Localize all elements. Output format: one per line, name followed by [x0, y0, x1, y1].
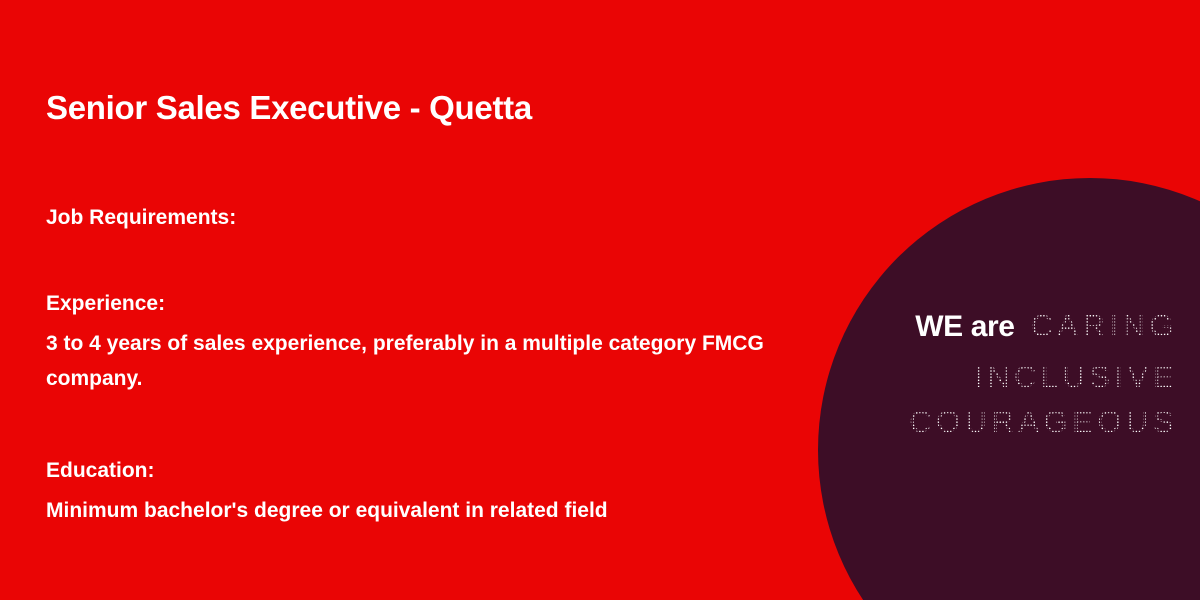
- tagline-line-1: WE are CARING: [909, 303, 1178, 354]
- experience-body: 3 to 4 years of sales experience, prefer…: [46, 326, 766, 396]
- education-label: Education:: [46, 456, 155, 486]
- headline-with-us: With Us: [46, 0, 243, 12]
- tagline-value-inclusive: INCLUSIVE: [909, 354, 1178, 399]
- tagline-value-caring: CARING: [1030, 308, 1178, 343]
- job-copy-column: With Us Senior Sales Executive - Quetta …: [46, 0, 806, 600]
- job-title: Senior Sales Executive - Quetta: [46, 86, 532, 130]
- experience-label: Experience:: [46, 289, 165, 319]
- brand-tagline: WE are CARING INCLUSIVE COURAGEOUS: [909, 303, 1178, 444]
- education-body: Minimum bachelor's degree or equivalent …: [46, 493, 766, 528]
- job-requirements-label: Job Requirements:: [46, 203, 236, 233]
- tagline-value-courageous: COURAGEOUS: [909, 399, 1178, 444]
- tagline-lead: WE are: [915, 310, 1030, 343]
- job-posting-poster: With Us Senior Sales Executive - Quetta …: [0, 0, 1200, 600]
